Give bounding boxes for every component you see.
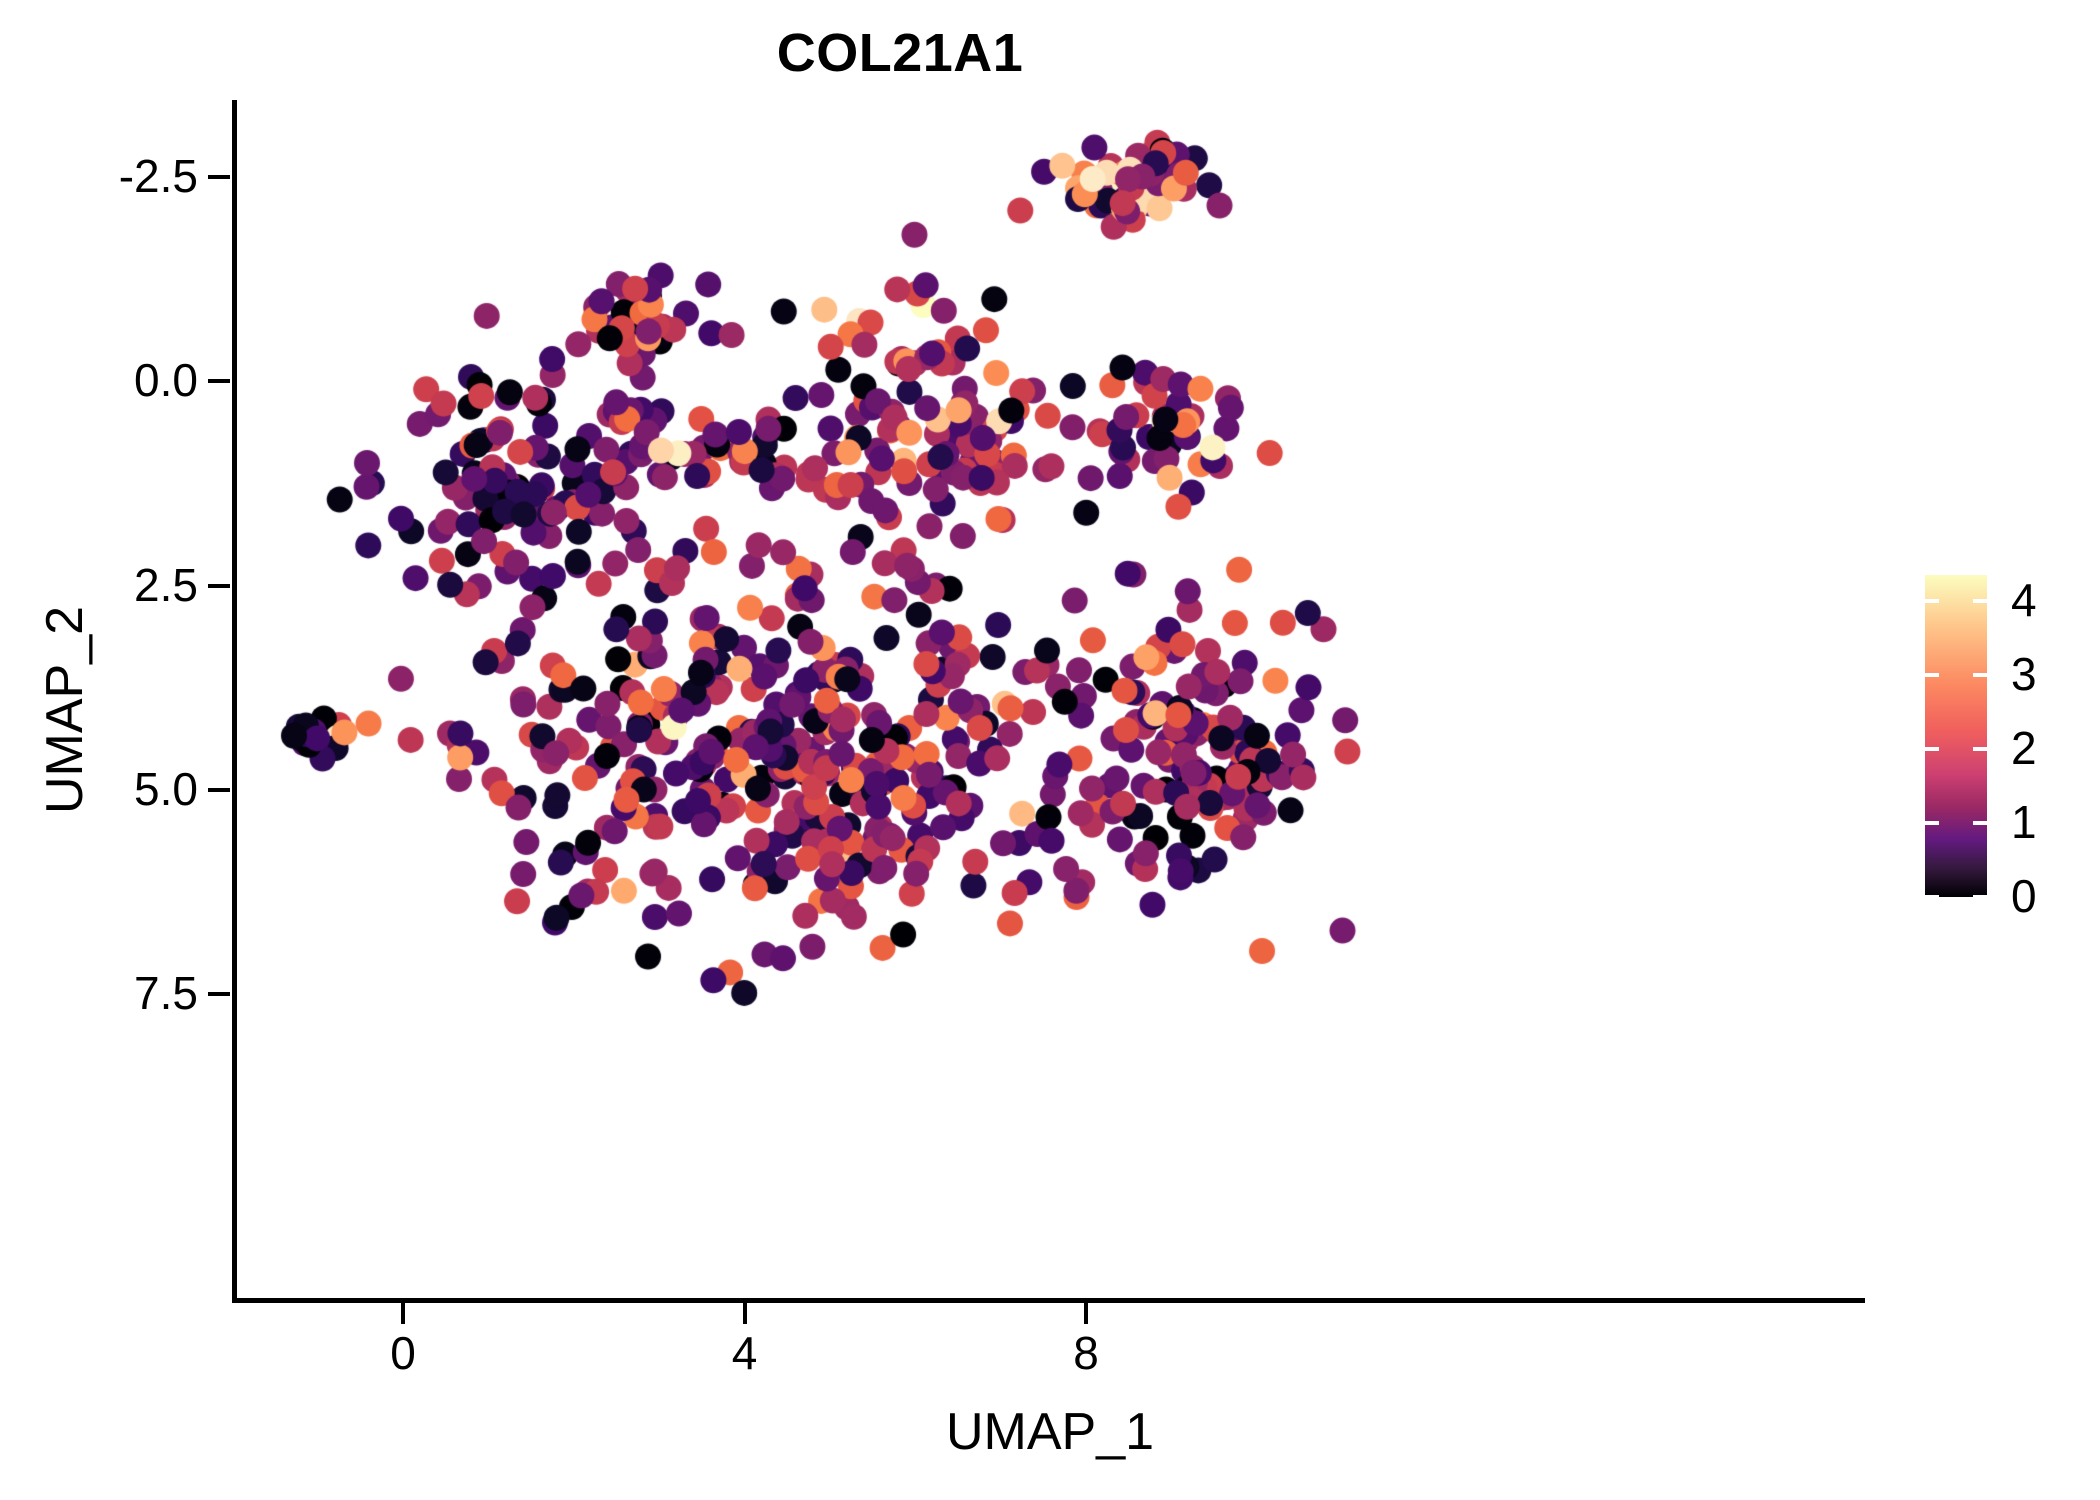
- legend-tick-label: 3: [2011, 651, 2037, 697]
- legend-tick: [1973, 673, 1987, 677]
- umap-feature-plot: COL21A1 7.5 5.0 2.5 0.0 -2.5 0 4 8 UMAP_…: [0, 0, 2100, 1500]
- legend-tick: [1925, 673, 1939, 677]
- y-tick-label: 7.5: [0, 970, 198, 1016]
- color-legend-gradient-bar: [1925, 575, 1987, 897]
- y-tick-mark: [208, 175, 230, 179]
- x-tick-label: 0: [343, 1330, 463, 1376]
- color-legend: 4 3 2 1 0: [1925, 575, 2085, 905]
- x-tick-mark: [401, 1302, 405, 1324]
- x-tick-label: 4: [685, 1330, 805, 1376]
- legend-tick: [1925, 895, 1939, 899]
- y-tick-label: 5.0: [0, 766, 198, 812]
- y-tick-label: -2.5: [0, 153, 198, 199]
- legend-tick-label: 0: [2011, 873, 2037, 919]
- legend-tick: [1973, 747, 1987, 751]
- legend-tick: [1973, 895, 1987, 899]
- x-tick-label: 8: [1026, 1330, 1146, 1376]
- legend-tick-label: 2: [2011, 725, 2037, 771]
- legend-tick: [1925, 821, 1939, 825]
- x-tick-mark: [743, 1302, 747, 1324]
- scatter-points-layer: [0, 0, 2100, 1500]
- legend-tick: [1925, 747, 1939, 751]
- legend-tick: [1973, 599, 1987, 603]
- y-tick-label: 2.5: [0, 562, 198, 608]
- y-tick-mark: [208, 379, 230, 383]
- x-axis-line: [232, 1298, 1865, 1303]
- page-title: COL21A1: [0, 22, 1800, 84]
- y-tick-label: 0.0: [0, 357, 198, 403]
- legend-tick: [1925, 599, 1939, 603]
- legend-tick-label: 1: [2011, 799, 2037, 845]
- y-tick-mark: [208, 992, 230, 996]
- x-axis-title: UMAP_1: [235, 1402, 1865, 1462]
- legend-tick-label: 4: [2011, 577, 2037, 623]
- y-tick-mark: [208, 788, 230, 792]
- y-axis-line: [232, 100, 237, 1302]
- x-tick-mark: [1084, 1302, 1088, 1324]
- y-axis-title: UMAP_2: [35, 460, 95, 960]
- legend-tick: [1973, 821, 1987, 825]
- y-tick-mark: [208, 584, 230, 588]
